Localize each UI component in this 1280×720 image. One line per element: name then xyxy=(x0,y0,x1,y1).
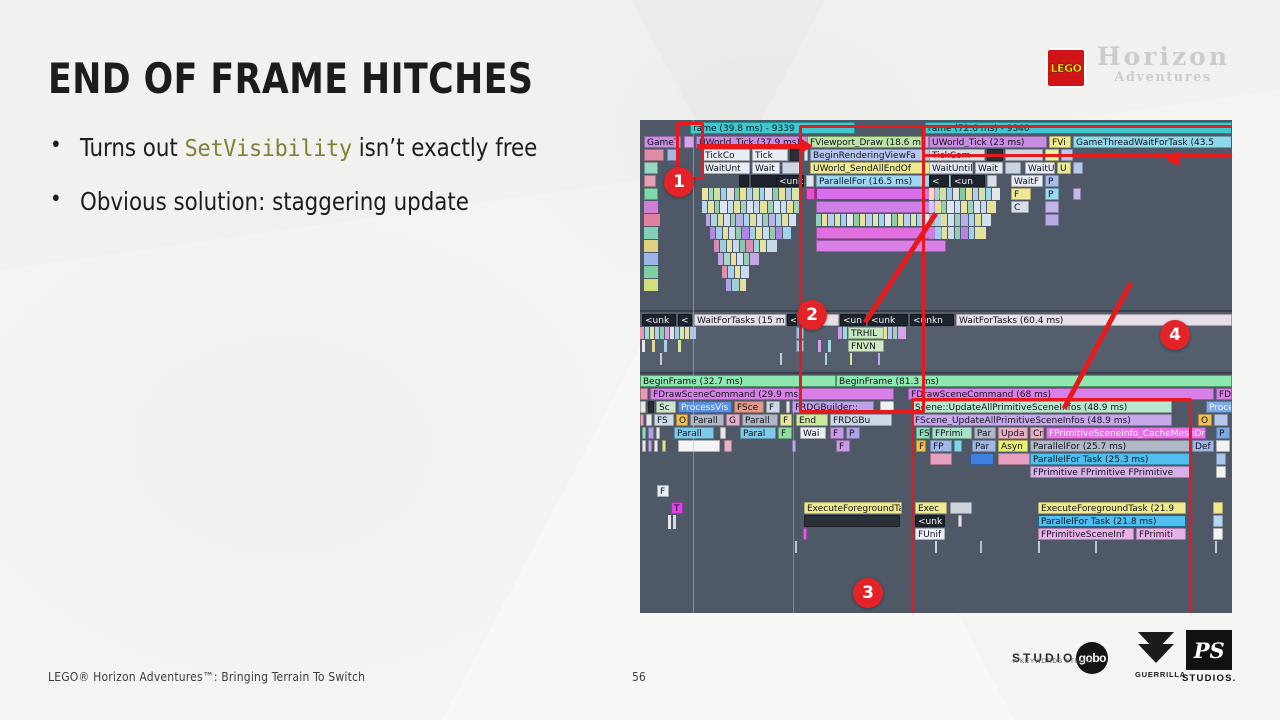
timeline-event: FDrawSceneCommand (29.9 ms) xyxy=(650,388,894,400)
timeline-event xyxy=(720,427,726,439)
timeline-event xyxy=(644,175,656,187)
timeline-event: WaitUnt xyxy=(702,162,750,174)
unreal-insights-timeline-capture: rame (39.8 ms) - 9339 rame (72.6 ms) - 9… xyxy=(640,120,1232,613)
lego-logo-text: LEGO xyxy=(1051,62,1082,75)
bullet-text: Obvious solution: staggering update xyxy=(80,186,469,217)
timeline-event xyxy=(648,427,654,439)
timeline-event: < xyxy=(678,314,692,326)
timeline-event xyxy=(1213,515,1223,527)
timeline-event xyxy=(987,149,1003,161)
timeline-event xyxy=(816,201,946,213)
inline-code-setvisibility: SetVisibility xyxy=(185,136,352,162)
timeline-event xyxy=(1214,414,1228,426)
timeline-event xyxy=(640,401,646,413)
timeline-event: F xyxy=(916,440,926,452)
timeline-event-cluster xyxy=(795,541,1232,553)
timeline-event: Wai xyxy=(800,427,826,439)
timeline-event: Def xyxy=(1192,440,1214,452)
timeline-event: ProcessVis xyxy=(678,401,732,413)
timeline-event xyxy=(930,453,952,465)
timeline-event: FScene_UpdateAllPrimitiveSceneInfos (48.… xyxy=(912,414,1172,426)
timeline-event-cluster xyxy=(702,188,802,200)
timeline-event: FDrawSceneCommand (68 ms) xyxy=(908,388,1214,400)
timeline-event-cluster xyxy=(929,214,1003,226)
timeline-event: TRHIL xyxy=(848,327,884,339)
timeline-event-cluster xyxy=(640,340,698,352)
bullet-text-pre: Turns out xyxy=(80,133,185,162)
timeline-event: P xyxy=(1216,427,1230,439)
timeline-event: FS xyxy=(654,414,674,426)
frame-bar: rame (72.6 ms) - 9340 xyxy=(925,122,1232,134)
list-item: • Obvious solution: staggering update xyxy=(50,186,640,217)
timeline-event xyxy=(662,440,666,452)
timeline-event-cluster xyxy=(668,515,682,529)
timeline-event xyxy=(1073,162,1083,174)
timeline-event: F xyxy=(766,401,780,413)
timeline-event: ExecuteForegroundTa xyxy=(804,502,902,514)
timeline-event-cluster xyxy=(706,214,806,226)
timeline-event xyxy=(782,162,802,174)
timeline-event: WaitUntil xyxy=(929,162,973,174)
timeline-event: F xyxy=(657,485,669,497)
timeline-event: Exec xyxy=(915,502,947,514)
timeline-event: GameThreadWaitForTask (43.5 xyxy=(1073,136,1232,148)
timeline-event: FP xyxy=(930,440,952,452)
timeline-event xyxy=(803,528,807,540)
guerrilla-chevron-icon xyxy=(1138,632,1174,668)
timeline-event: ExecuteForegroundTask (21.9 xyxy=(1038,502,1186,514)
timeline-event-cluster xyxy=(640,353,940,365)
timeline-event: Wait xyxy=(975,162,1003,174)
callout-marker-4: 4 xyxy=(1160,320,1190,350)
timeline-event: Par xyxy=(972,440,996,452)
timeline-event: Parall xyxy=(674,427,714,439)
timeline-event: FPrimiti xyxy=(1136,528,1186,540)
timeline-event: Proces xyxy=(1206,401,1232,413)
timeline-event xyxy=(804,515,900,527)
timeline-event: <unk xyxy=(915,515,945,527)
timeline-event-cluster xyxy=(710,227,800,239)
timeline-event xyxy=(954,440,962,452)
timeline-event: BeginFrame (32.7 ms) xyxy=(640,375,836,387)
timeline-event: FSce xyxy=(734,401,764,413)
timeline-event: TickCom xyxy=(929,149,985,161)
timeline-event xyxy=(654,440,658,452)
timeline-event: U xyxy=(1057,162,1071,174)
timeline-event-cluster xyxy=(722,266,782,278)
timeline-event xyxy=(1073,188,1081,200)
timeline-event: UWorld_Tick (23 ms) xyxy=(929,136,1047,148)
guerrilla-logo-text: GUERRILLA xyxy=(1135,670,1177,679)
timeline-event: Wait xyxy=(752,162,780,174)
timeline-event xyxy=(1061,149,1073,161)
timeline-event xyxy=(646,414,652,426)
bullet-dot-icon: • xyxy=(50,186,80,214)
timeline-event xyxy=(724,440,732,452)
timeline-event xyxy=(806,175,814,187)
timeline-event-cluster xyxy=(726,279,772,291)
timeline-event xyxy=(648,401,654,413)
timeline-event-cluster xyxy=(644,240,658,252)
timeline-event xyxy=(1045,214,1059,226)
timeline-event xyxy=(1216,440,1230,452)
timeline-event xyxy=(640,388,648,400)
playstation-studios-logo: STUDIOS. xyxy=(1182,630,1236,684)
timeline-event xyxy=(880,401,894,413)
horizon-logo-line2: Adventures xyxy=(1097,70,1229,85)
timeline-event-cluster xyxy=(714,240,796,252)
timeline-event-cluster xyxy=(644,253,658,265)
timeline-event: O xyxy=(1198,414,1212,426)
timeline-event: FRDGBuilder:: xyxy=(792,401,874,413)
studio-gobo-logo: STUDIO gobo A KEYWORDS STUDIO xyxy=(1012,642,1108,674)
timeline-event: Par xyxy=(974,427,996,439)
page-title: End of frame hitches xyxy=(48,54,533,103)
timeline-event-cluster xyxy=(644,201,658,213)
timeline-event xyxy=(642,440,646,452)
timeline-event: FRDGBu xyxy=(830,414,892,426)
timeline-event xyxy=(958,515,962,527)
timeline-event: WaitU xyxy=(1025,162,1055,174)
timeline-event xyxy=(1213,502,1223,514)
timeline-event: Asyn xyxy=(998,440,1028,452)
playstation-studios-text: STUDIOS. xyxy=(1182,673,1236,684)
timeline-event: GameT xyxy=(644,136,681,148)
timeline-event: G xyxy=(726,414,740,426)
timeline-event: <un xyxy=(951,175,985,187)
timeline-event xyxy=(1216,453,1226,465)
frame-bar: rame (39.8 ms) - 9339 xyxy=(690,122,855,134)
timeline-event-cluster xyxy=(644,279,658,291)
timeline-event: Cr xyxy=(1030,427,1044,439)
timeline-event xyxy=(739,175,749,187)
time-cursor xyxy=(693,120,694,613)
timeline-event: < xyxy=(787,314,797,326)
timeline-event: WaitForTasks (15 m xyxy=(694,314,786,326)
timeline-event: F xyxy=(830,427,844,439)
list-item: • Turns out SetVisibility isn’t exactly … xyxy=(50,132,640,164)
timeline-event: ParallelFor Task (25.3 ms) xyxy=(1030,453,1190,465)
timeline-event: <unk xyxy=(642,314,676,326)
timeline-event-cluster xyxy=(929,227,1003,239)
timeline-event xyxy=(816,188,946,200)
studio-gobo-subtitle: A KEYWORDS STUDIO xyxy=(1013,658,1093,665)
timeline-event: F xyxy=(780,414,792,426)
timeline-event: FNVN xyxy=(848,340,884,352)
annotation-arrow-1-line xyxy=(697,144,803,149)
timeline-event-cluster xyxy=(718,253,790,265)
timeline-event xyxy=(640,414,644,426)
timeline-event-cluster xyxy=(644,266,658,278)
callout-marker-2: 2 xyxy=(797,300,827,330)
timeline-event: Paral xyxy=(740,427,776,439)
timeline-event xyxy=(678,440,720,452)
timeline-event: Parall xyxy=(690,414,724,426)
timeline-event xyxy=(1045,149,1059,161)
timeline-event: P xyxy=(1045,188,1059,200)
timeline-event: TickCo xyxy=(702,149,750,161)
timeline-event xyxy=(970,453,994,465)
timeline-event-cluster xyxy=(644,214,660,226)
timeline-event: O xyxy=(676,414,688,426)
timeline-event: T xyxy=(671,502,683,514)
time-cursor xyxy=(793,375,794,613)
timeline-event: P xyxy=(846,427,860,439)
timeline-event: FUnif xyxy=(915,528,945,540)
timeline-event: < xyxy=(929,175,949,187)
timeline-event xyxy=(796,327,804,339)
horizon-logo-line1: Horizon xyxy=(1097,44,1229,70)
timeline-event xyxy=(796,340,804,352)
timeline-event-cluster xyxy=(818,340,844,352)
timeline-event: FDrawS xyxy=(1216,388,1232,400)
timeline-event: FViewport_Draw (18.6 ms) xyxy=(807,136,922,148)
playstation-icon xyxy=(1186,630,1232,670)
timeline-event: WaitF xyxy=(1011,175,1043,187)
annotation-arrow-1-head xyxy=(800,138,813,154)
timeline-event xyxy=(644,188,658,200)
timeline-event xyxy=(1005,149,1043,161)
timeline-event xyxy=(1045,201,1059,213)
timeline-event xyxy=(1216,466,1226,478)
timeline-event: Sc xyxy=(656,401,676,413)
timeline-event: Scene::UpdateAllPrimitiveSceneInfos (48.… xyxy=(912,401,1172,413)
timeline-event-cluster xyxy=(929,201,1003,213)
timeline-event xyxy=(656,427,660,439)
timeline-event: <unkn xyxy=(910,314,954,326)
timeline-event: FPrimitive FPrimitive FPrimitive xyxy=(1030,466,1190,478)
timeline-event xyxy=(806,188,815,200)
timeline-event-cluster xyxy=(929,188,1003,200)
timeline-event xyxy=(1213,528,1223,540)
timeline-event-cluster xyxy=(702,201,807,213)
timeline-event: WaitForTasks (60.4 ms) xyxy=(956,314,1232,326)
horizon-adventures-logo: Horizon Adventures xyxy=(1097,44,1229,96)
timeline-event: F xyxy=(778,427,792,439)
bullet-text: Turns out SetVisibility isn’t exactly fr… xyxy=(80,132,537,164)
timeline-event xyxy=(998,453,1030,465)
callout-marker-3: 3 xyxy=(853,578,883,608)
timeline-event: FVi xyxy=(1049,136,1071,148)
lego-logo: LEGO xyxy=(1046,48,1086,88)
timeline-event: C xyxy=(1011,201,1029,213)
timeline-event xyxy=(816,240,946,252)
timeline-event: ParallelFor Task (21.8 ms) xyxy=(1038,515,1186,527)
timeline-event xyxy=(1005,162,1021,174)
timeline-event: FPrimitiveSceneInfo_CacheMeshDrawC xyxy=(1046,427,1206,439)
timeline-event xyxy=(950,502,972,514)
page-number: 56 xyxy=(632,670,646,684)
timeline-event: FPrimi xyxy=(932,427,972,439)
bullet-text-post: isn’t exactly free xyxy=(352,133,537,162)
timeline-event: FPrimitiveSceneInf xyxy=(1038,528,1134,540)
timeline-event: F xyxy=(836,440,850,452)
timeline-event xyxy=(648,440,652,452)
timeline-event: End xyxy=(796,414,828,426)
timeline-event: BeginFrame (81.3 ms) xyxy=(836,375,1232,387)
timeline-event xyxy=(987,175,997,187)
callout-marker-1: 1 xyxy=(664,167,694,197)
timeline-event: Parall xyxy=(742,414,778,426)
timeline-event: <unk xyxy=(868,314,908,326)
timeline-event: F xyxy=(1011,188,1031,200)
footer-deck-title: LEGO® Horizon Adventures™: Bringing Terr… xyxy=(48,670,365,684)
timeline-event: P xyxy=(1045,175,1059,187)
timeline-event xyxy=(644,162,658,174)
bullet-list: • Turns out SetVisibility isn’t exactly … xyxy=(50,132,640,239)
timeline-event: ParallelFor (25.7 ms) xyxy=(1030,440,1190,452)
timeline-event xyxy=(786,401,790,413)
timeline-event xyxy=(642,427,646,439)
timeline-event: FS xyxy=(916,427,930,439)
guerrilla-logo: GUERRILLA xyxy=(1135,632,1177,679)
bullet-dot-icon: • xyxy=(50,132,80,160)
timeline-event: Upda xyxy=(998,427,1028,439)
timeline-event: Tick xyxy=(752,149,788,161)
timeline-event-cluster xyxy=(640,327,698,339)
timeline-event xyxy=(644,149,664,161)
timeline-event-cluster xyxy=(644,227,658,239)
timeline-event: <unk xyxy=(776,175,804,187)
timeline-event xyxy=(667,149,679,161)
